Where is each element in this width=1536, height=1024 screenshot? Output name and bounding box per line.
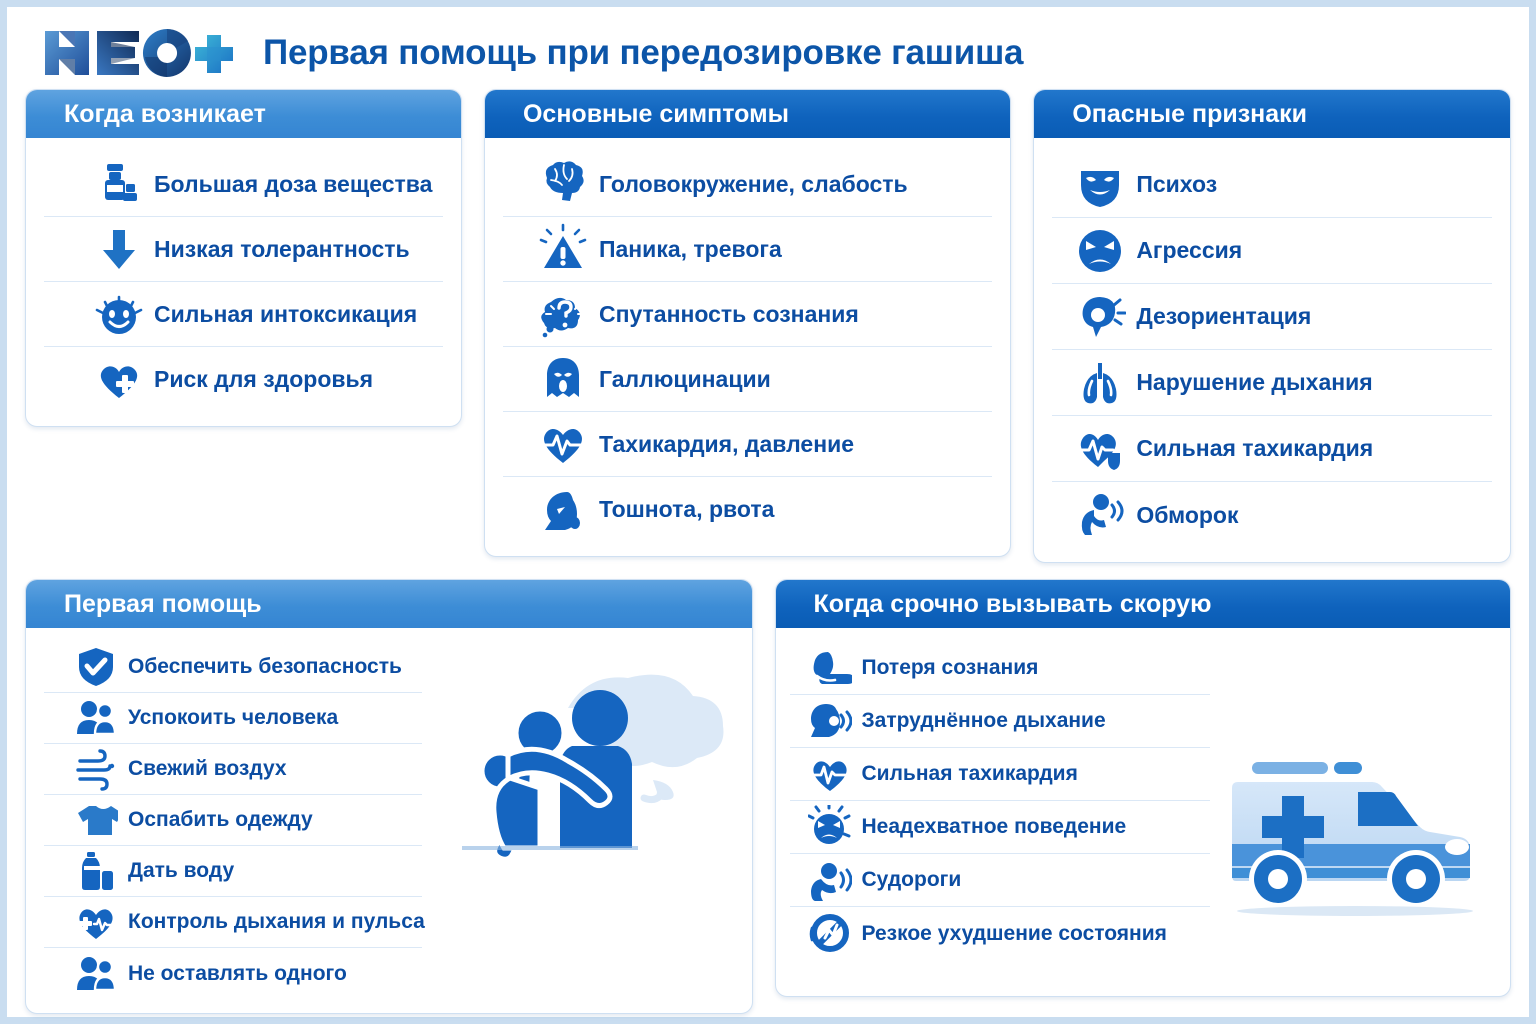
list-item[interactable]: Затруднённое дыхание bbox=[790, 695, 1210, 748]
list-item[interactable]: Психоз bbox=[1052, 152, 1492, 218]
list-item-label: Спутанность сознания bbox=[599, 301, 859, 328]
card-when: Когда возникает bbox=[25, 89, 462, 427]
down-arrow-icon bbox=[94, 224, 144, 274]
list-item-label: Сильная интоксикация bbox=[154, 301, 417, 328]
vomiting-head-icon bbox=[537, 484, 589, 536]
list-item-label: Сильная тахикардия bbox=[1136, 435, 1373, 462]
list-item-label: Дезориентация bbox=[1136, 303, 1311, 330]
list-item[interactable]: Паника, тревога bbox=[503, 217, 992, 282]
heart-pulse-icon bbox=[537, 418, 589, 470]
list-item[interactable]: Низкая толерантность bbox=[44, 217, 443, 282]
list-item-label: Сильная тахикардия bbox=[862, 762, 1078, 786]
bottom-card-row: Первая помощь bbox=[25, 579, 1511, 1014]
list-item-label: Обеспечить безопасность bbox=[128, 655, 402, 679]
list-item[interactable]: Контроль дыхания и пульса bbox=[44, 897, 422, 948]
card-symptoms-header: Основные симптомы bbox=[485, 90, 1010, 138]
neo-plus-logo bbox=[41, 25, 237, 81]
heart-cross-pulse-icon bbox=[74, 900, 118, 944]
shield-check-icon bbox=[74, 645, 118, 689]
card-when-body: Большая доза вещества Низкая толерантнос… bbox=[26, 138, 461, 426]
medicine-bottle-icon bbox=[94, 159, 144, 209]
list-item[interactable]: Судороги bbox=[790, 854, 1210, 907]
list-item[interactable]: Сильная тахикардия bbox=[790, 748, 1210, 801]
card-firstaid-header: Первая помощь bbox=[26, 580, 752, 628]
list-item[interactable]: Потеря сознания bbox=[790, 642, 1210, 695]
danger-item-list: Психоз Агрессия bbox=[1052, 152, 1492, 548]
heart-cross-icon bbox=[94, 355, 144, 405]
card-symptoms-body: Головокружение, слабость Паника, тревога bbox=[485, 138, 1010, 556]
list-item[interactable]: Сильная интоксикация bbox=[44, 282, 443, 347]
list-item-label: Неадехватное поведение bbox=[862, 815, 1127, 839]
list-item[interactable]: Обеспечить безопасность bbox=[44, 642, 422, 693]
list-item-label: Потеря сознания bbox=[862, 656, 1039, 680]
angry-face-icon bbox=[1074, 225, 1126, 277]
list-item[interactable]: Агрессия bbox=[1052, 218, 1492, 284]
top-card-row: Когда возникает bbox=[25, 89, 1511, 563]
card-when-header: Когда возникает bbox=[26, 90, 461, 138]
no-entry-decline-icon bbox=[808, 912, 852, 956]
two-people-icon bbox=[74, 696, 118, 740]
thought-question-icon bbox=[537, 288, 589, 340]
dizzy-face-icon bbox=[94, 289, 144, 339]
list-item-label: Паника, тревога bbox=[599, 236, 782, 263]
list-item-label: Судороги bbox=[862, 868, 962, 892]
ambulance-illustration bbox=[1210, 748, 1500, 923]
emergency-item-list: Потеря сознания Затруднённое дыхание bbox=[790, 642, 1210, 960]
tshirt-icon bbox=[74, 798, 118, 842]
list-item[interactable]: Спутанность сознания bbox=[503, 282, 992, 347]
fainting-person-icon bbox=[1074, 489, 1126, 541]
list-item[interactable]: Не оставлять одного bbox=[44, 948, 422, 999]
list-item-label: Контроль дыхания и пульса bbox=[128, 910, 425, 934]
unconscious-person-icon bbox=[808, 646, 852, 690]
infographic-page: Первая помощь при передозировке гашиша К… bbox=[7, 7, 1529, 1017]
heart-pulse-icon bbox=[808, 752, 852, 796]
list-item-label: Риск для здоровья bbox=[154, 366, 373, 393]
agitated-face-icon bbox=[808, 805, 852, 849]
list-item-label: Не оставлять одного bbox=[128, 962, 347, 986]
lungs-icon bbox=[1074, 357, 1126, 409]
list-item-label: Резкое ухудшение состояния bbox=[862, 922, 1167, 946]
list-item-label: Успокоить человека bbox=[128, 706, 338, 730]
list-item[interactable]: Галлюцинации bbox=[503, 347, 992, 412]
list-item-label: Тошнота, рвота bbox=[599, 496, 774, 523]
list-item-label: Галлюцинации bbox=[599, 366, 771, 393]
heart-pulse-shield-icon bbox=[1074, 423, 1126, 475]
ghost-icon bbox=[537, 353, 589, 405]
card-emergency-header: Когда срочно вызывать скорую bbox=[776, 580, 1510, 628]
card-danger-header: Опасные признаки bbox=[1034, 90, 1510, 138]
list-item-label: Низкая толерантность bbox=[154, 236, 410, 263]
disoriented-head-icon bbox=[1074, 291, 1126, 343]
evil-mask-icon bbox=[1074, 159, 1126, 211]
list-item-label: Тахикардия, давление bbox=[599, 431, 854, 458]
list-item-label: Свежий воздух bbox=[128, 757, 287, 781]
warning-triangle-icon bbox=[537, 223, 589, 275]
list-item-label: Головокружение, слабость bbox=[599, 171, 908, 198]
list-item[interactable]: Оспабить одежду bbox=[44, 795, 422, 846]
list-item[interactable]: Свежий воздух bbox=[44, 744, 422, 795]
list-item-label: Психоз bbox=[1136, 171, 1217, 198]
list-item-label: Нарушение дыхания bbox=[1136, 369, 1372, 396]
list-item-label: Оспабить одежду bbox=[128, 808, 313, 832]
list-item-label: Затруднённое дыхание bbox=[862, 709, 1106, 733]
list-item[interactable]: Тахикардия, давление bbox=[503, 412, 992, 477]
when-item-list: Большая доза вещества Низкая толерантнос… bbox=[44, 152, 443, 412]
card-emergency-body: Потеря сознания Затруднённое дыхание bbox=[776, 628, 1510, 996]
list-item-label: Большая доза вещества bbox=[154, 171, 432, 198]
list-item[interactable]: Нарушение дыхания bbox=[1052, 350, 1492, 416]
card-firstaid-body: Обеспечить безопасность Успокоить челове… bbox=[26, 628, 752, 1013]
brain-icon bbox=[537, 158, 589, 210]
list-item[interactable]: Резкое ухудшение состояния bbox=[790, 907, 1210, 960]
two-people-icon bbox=[74, 952, 118, 996]
card-danger-body: Психоз Агрессия bbox=[1034, 138, 1510, 562]
card-emergency: Когда срочно вызывать скорую bbox=[775, 579, 1511, 997]
page-title: Первая помощь при передозировке гашиша bbox=[263, 33, 1023, 73]
list-item[interactable]: Неадехватное поведение bbox=[790, 801, 1210, 854]
water-bottle-icon bbox=[74, 849, 118, 893]
list-item[interactable]: Успокоить человека bbox=[44, 693, 422, 744]
two-people-helping-illustration bbox=[448, 638, 748, 898]
list-item[interactable]: Большая доза вещества bbox=[44, 152, 443, 217]
list-item[interactable]: Риск для здоровья bbox=[44, 347, 443, 412]
page-header: Первая помощь при передозировке гашиша bbox=[25, 17, 1511, 89]
card-symptoms: Основные симптомы Головокружение, слабос… bbox=[484, 89, 1011, 557]
convulsions-icon bbox=[808, 858, 852, 902]
card-danger: Опасные признаки Психоз bbox=[1033, 89, 1511, 563]
list-item-label: Агрессия bbox=[1136, 237, 1242, 264]
list-item[interactable]: Тошнота, рвота bbox=[503, 477, 992, 542]
wind-icon bbox=[74, 747, 118, 791]
list-item-label: Дать воду bbox=[128, 859, 234, 883]
symptoms-item-list: Головокружение, слабость Паника, тревога bbox=[503, 152, 992, 542]
list-item-label: Обморок bbox=[1136, 502, 1238, 529]
list-item[interactable]: Сильная тахикардия bbox=[1052, 416, 1492, 482]
list-item[interactable]: Обморок bbox=[1052, 482, 1492, 548]
list-item[interactable]: Головокружение, слабость bbox=[503, 152, 992, 217]
list-item[interactable]: Дать воду bbox=[44, 846, 422, 897]
firstaid-item-list: Обеспечить безопасность Успокоить челове… bbox=[44, 642, 422, 999]
card-firstaid: Первая помощь bbox=[25, 579, 753, 1014]
breathing-difficulty-icon bbox=[808, 699, 852, 743]
list-item[interactable]: Дезориентация bbox=[1052, 284, 1492, 350]
